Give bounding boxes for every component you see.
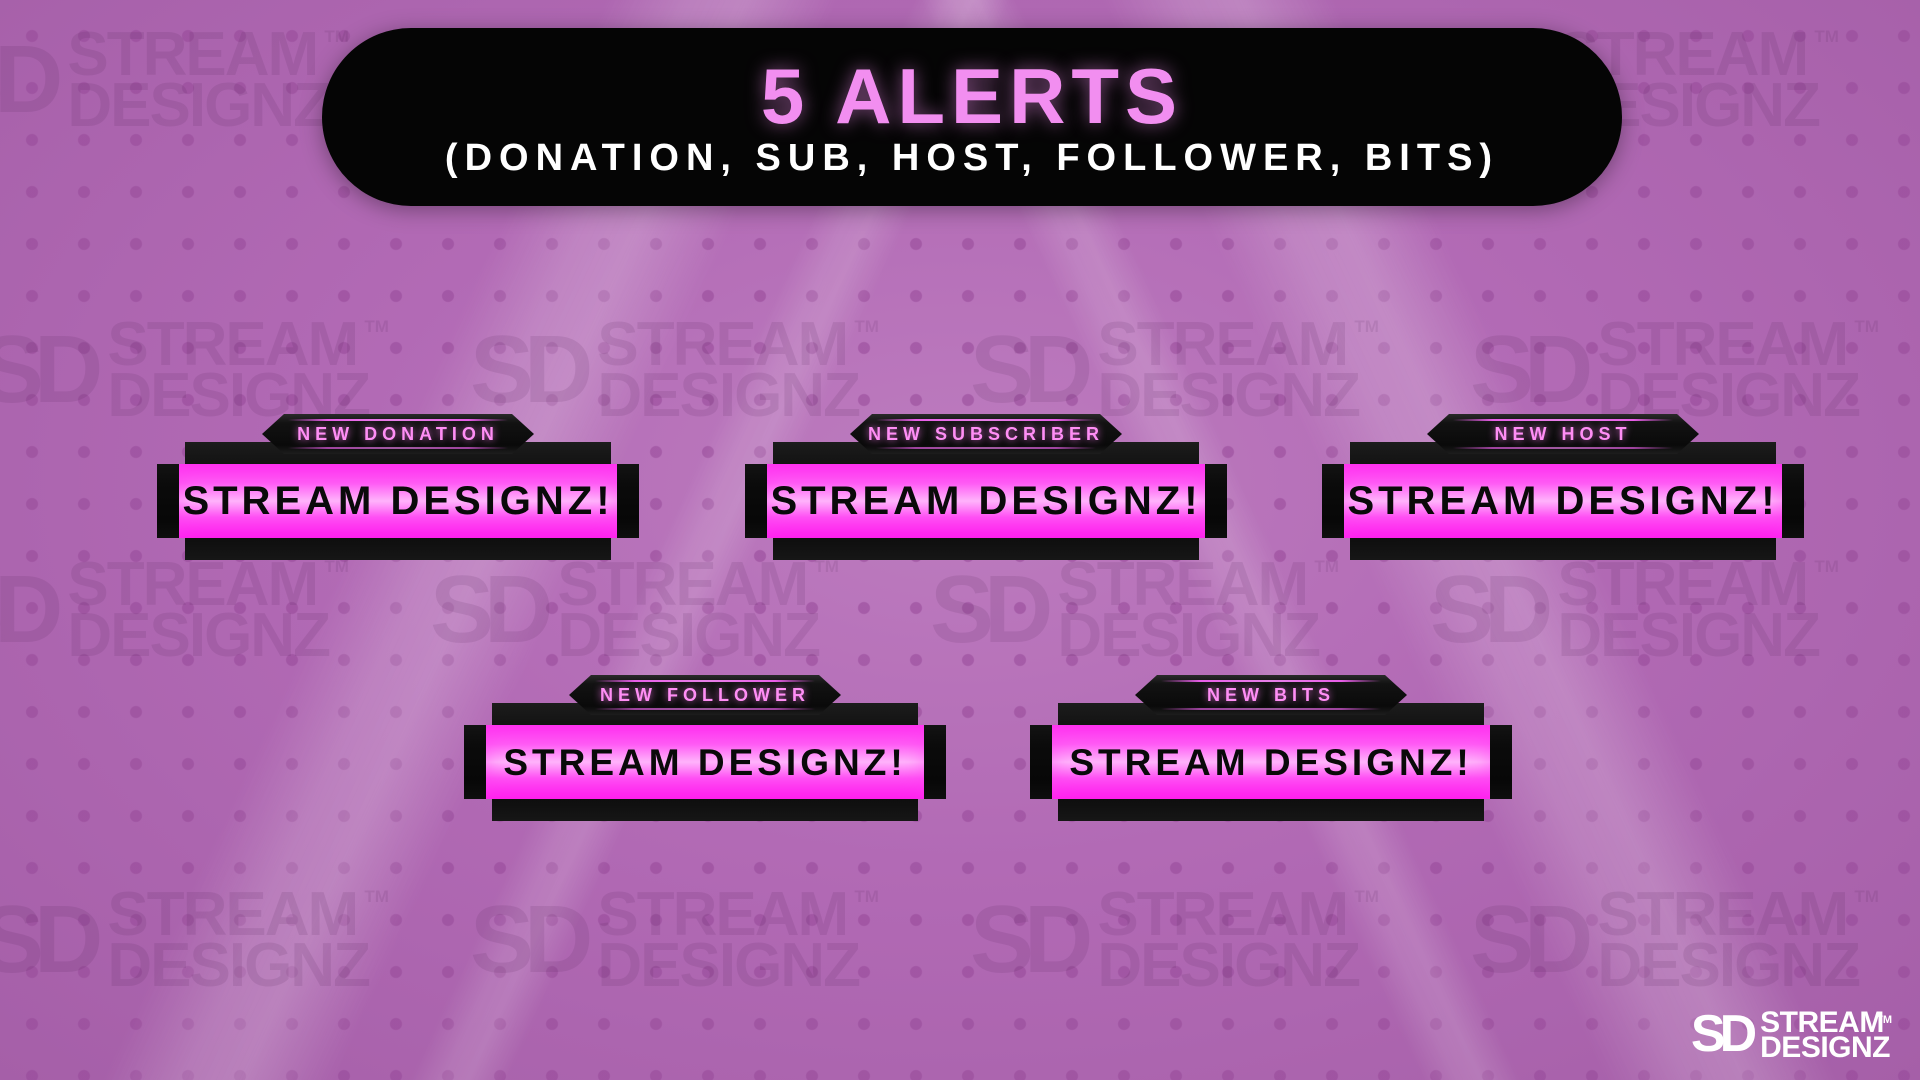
alert-frame: STREAM DESIGNZ! (745, 442, 1227, 560)
banner-accent-line (876, 447, 1096, 449)
alert-message: STREAM DESIGNZ! (503, 744, 906, 781)
banner-accent-line (288, 419, 508, 421)
alert-frame: STREAM DESIGNZ! (1030, 703, 1512, 821)
alert-type-label: NEW HOST (1495, 424, 1632, 445)
alert-type-label: NEW BITS (1207, 685, 1335, 706)
alert-body: STREAM DESIGNZ! (1052, 725, 1490, 799)
banner-accent-line (1161, 708, 1381, 710)
page-subtitle: (DONATION, SUB, HOST, FOLLOWER, BITS) (445, 139, 1499, 177)
alert-message: STREAM DESIGNZ! (182, 481, 613, 521)
trademark-icon: TM (1876, 1016, 1892, 1025)
banner-accent-line (1161, 680, 1381, 682)
brand-logo-line2: DESIGNZ (1760, 1035, 1890, 1060)
alert-card-new-subscriber[interactable]: STREAM DESIGNZ!NEW SUBSCRIBER (745, 414, 1227, 564)
alert-message: STREAM DESIGNZ! (1347, 481, 1778, 521)
alert-header-banner: NEW HOST (1427, 414, 1699, 454)
alert-card-new-bits[interactable]: STREAM DESIGNZ!NEW BITS (1030, 675, 1512, 825)
banner-accent-line (1453, 447, 1673, 449)
alert-card-new-donation[interactable]: STREAM DESIGNZ!NEW DONATION (157, 414, 639, 564)
header-banner: 5 ALERTS (DONATION, SUB, HOST, FOLLOWER,… (322, 28, 1622, 206)
alert-body: STREAM DESIGNZ! (1344, 464, 1782, 538)
banner-accent-line (288, 447, 508, 449)
alert-card-new-host[interactable]: STREAM DESIGNZ!NEW HOST (1322, 414, 1804, 564)
alert-frame: STREAM DESIGNZ! (1322, 442, 1804, 560)
alert-header-banner: NEW BITS (1135, 675, 1407, 715)
alert-card-new-follower[interactable]: STREAM DESIGNZ!NEW FOLLOWER (464, 675, 946, 825)
alert-frame: STREAM DESIGNZ! (157, 442, 639, 560)
alert-type-label: NEW DONATION (297, 424, 499, 445)
sd-monogram-icon: SD (1691, 1014, 1751, 1056)
banner-accent-line (595, 708, 815, 710)
alert-header-banner: NEW DONATION (262, 414, 534, 454)
banner-accent-line (595, 680, 815, 682)
alert-message: STREAM DESIGNZ! (770, 481, 1201, 521)
alert-type-label: NEW FOLLOWER (600, 685, 810, 706)
page-title: 5 ALERTS (761, 57, 1183, 135)
banner-accent-line (876, 419, 1096, 421)
alert-message: STREAM DESIGNZ! (1069, 744, 1472, 781)
banner-accent-line (1453, 419, 1673, 421)
alert-header-banner: NEW FOLLOWER (569, 675, 841, 715)
alert-body: STREAM DESIGNZ! (179, 464, 617, 538)
brand-logo: SD STREAM DESIGNZ TM (1691, 1010, 1890, 1060)
alert-type-label: NEW SUBSCRIBER (868, 424, 1104, 445)
alert-body: STREAM DESIGNZ! (767, 464, 1205, 538)
alert-frame: STREAM DESIGNZ! (464, 703, 946, 821)
alert-header-banner: NEW SUBSCRIBER (850, 414, 1122, 454)
alert-body: STREAM DESIGNZ! (486, 725, 924, 799)
